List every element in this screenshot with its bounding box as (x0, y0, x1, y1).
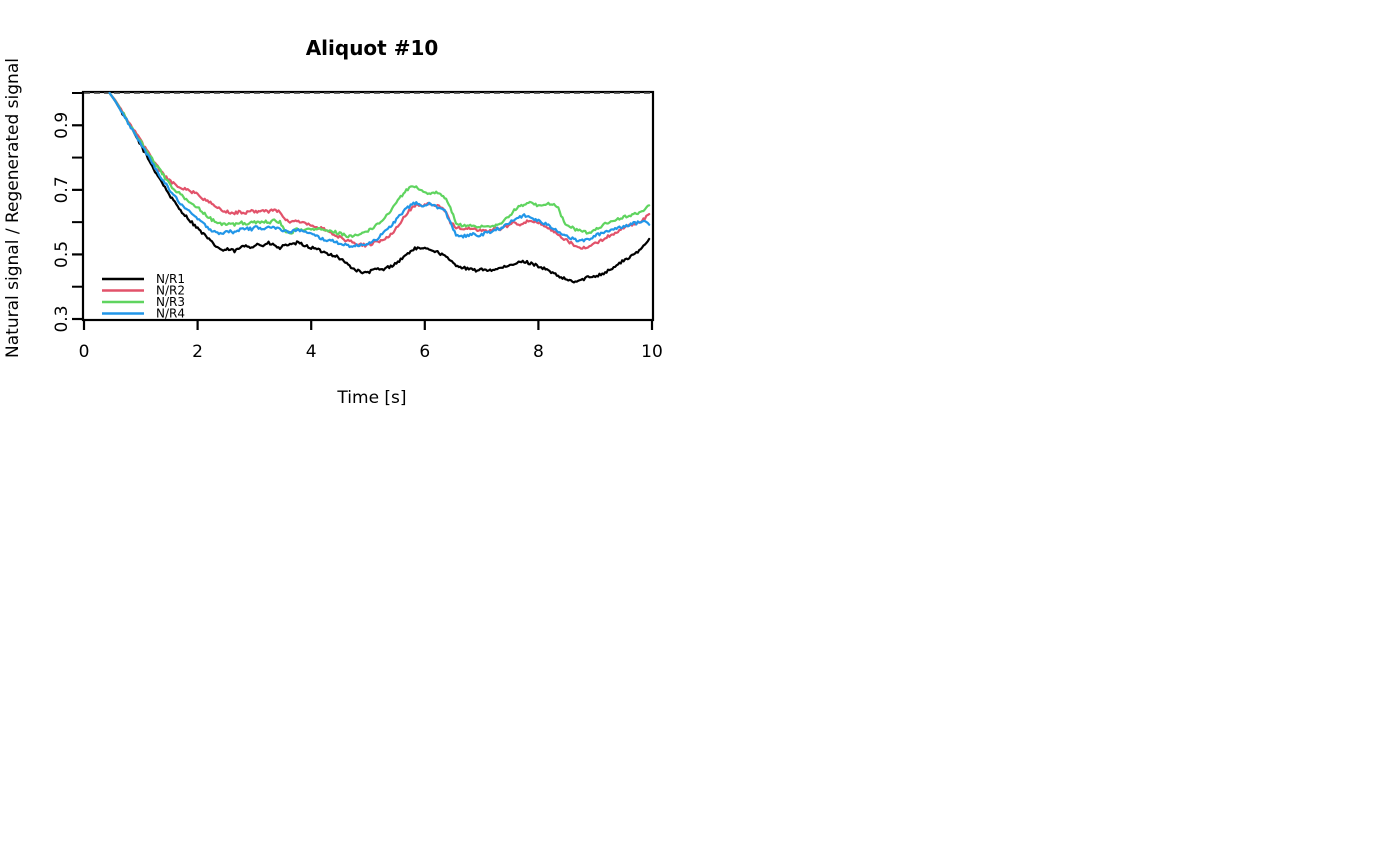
series-line-n-r1 (110, 93, 650, 282)
y-tick-label-1: 0.5 (52, 241, 72, 268)
page-title: Aliquot #10 (306, 36, 439, 60)
x-axis-ticks (84, 320, 652, 330)
x-tick-label-2: 4 (306, 342, 317, 362)
x-tick-label-1: 2 (192, 342, 203, 362)
x-tick-label-4: 8 (533, 342, 544, 362)
x-tick-label-3: 6 (419, 342, 430, 362)
figure-canvas: Aliquot #10 Natural signal / Regenerated… (0, 0, 1400, 866)
data-series-group (110, 93, 650, 282)
x-axis-label: Time [s] (336, 388, 406, 408)
y-tick-label-2: 0.7 (52, 176, 72, 203)
series-line-n-r3 (110, 93, 650, 237)
x-axis-tick-labels: 0246810 (79, 342, 663, 362)
legend: N/R1N/R2N/R3N/R4 (102, 272, 185, 321)
legend-label-n-r4: N/R4 (156, 307, 185, 321)
x-tick-label-0: 0 (79, 342, 90, 362)
y-tick-label-0: 0.3 (52, 305, 72, 332)
y-axis-tick-labels: 0.30.50.70.9 (52, 112, 72, 333)
y-tick-label-3: 0.9 (52, 112, 72, 139)
x-tick-label-5: 10 (641, 342, 663, 362)
y-axis-label: Natural signal / Regenerated signal (3, 58, 23, 358)
